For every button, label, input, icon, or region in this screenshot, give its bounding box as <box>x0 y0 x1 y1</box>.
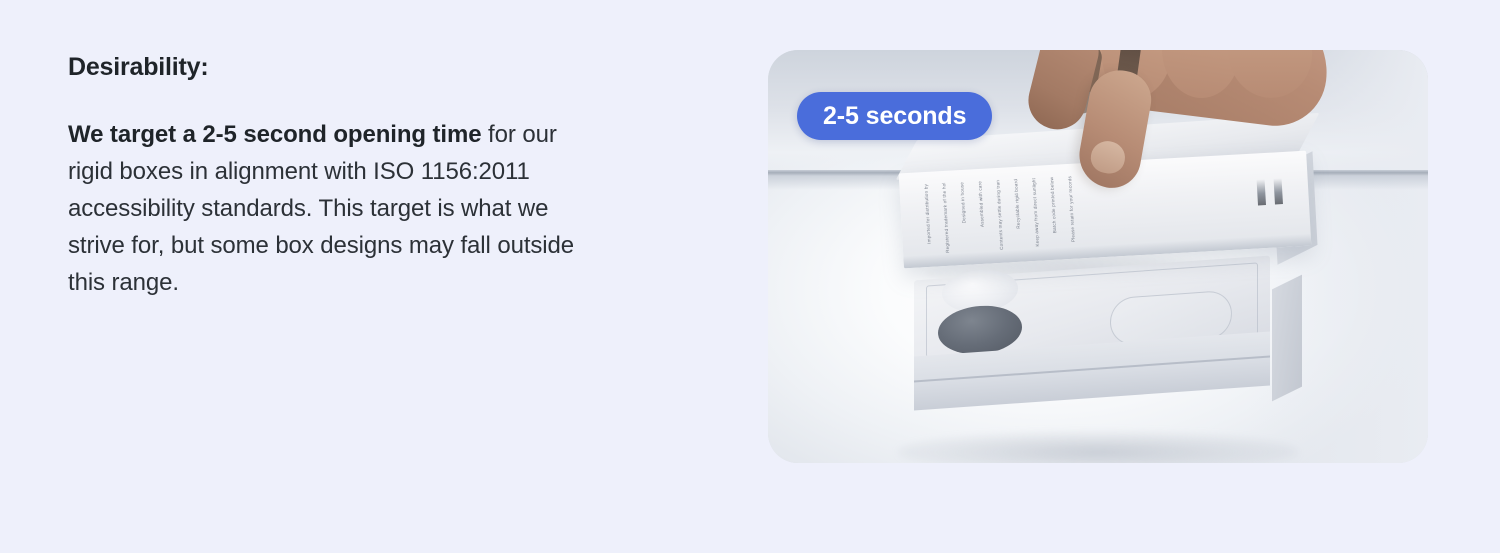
box-base-tray <box>914 268 1286 440</box>
page-title: Desirability: <box>68 52 588 82</box>
lid-print-column: Assembled with care <box>977 181 986 227</box>
hand-lifting-lid <box>1026 50 1346 186</box>
text-column: Desirability: We target a 2-5 second ope… <box>68 52 588 301</box>
body-paragraph: We target a 2-5 second opening time for … <box>68 116 588 301</box>
lid-print-column: Registered trademark of the holder <box>941 183 951 253</box>
lid-print-column: Keep away from direct sunlight <box>1031 178 1041 247</box>
media-panel: Imported for distribution by Registered … <box>768 50 1428 463</box>
lid-print-column: Designed in house <box>959 182 967 224</box>
paragraph-lead-text: We target a 2-5 second opening time <box>68 121 481 148</box>
duration-badge: 2-5 seconds <box>797 92 992 140</box>
lid-print-column: Contents may settle during transit <box>995 180 1005 250</box>
base-side-face <box>1272 275 1302 402</box>
lid-print-column: Recyclable rigid board <box>1013 179 1022 229</box>
lid-print-column: Imported for distribution by <box>923 184 932 244</box>
fingernail <box>1088 139 1127 176</box>
